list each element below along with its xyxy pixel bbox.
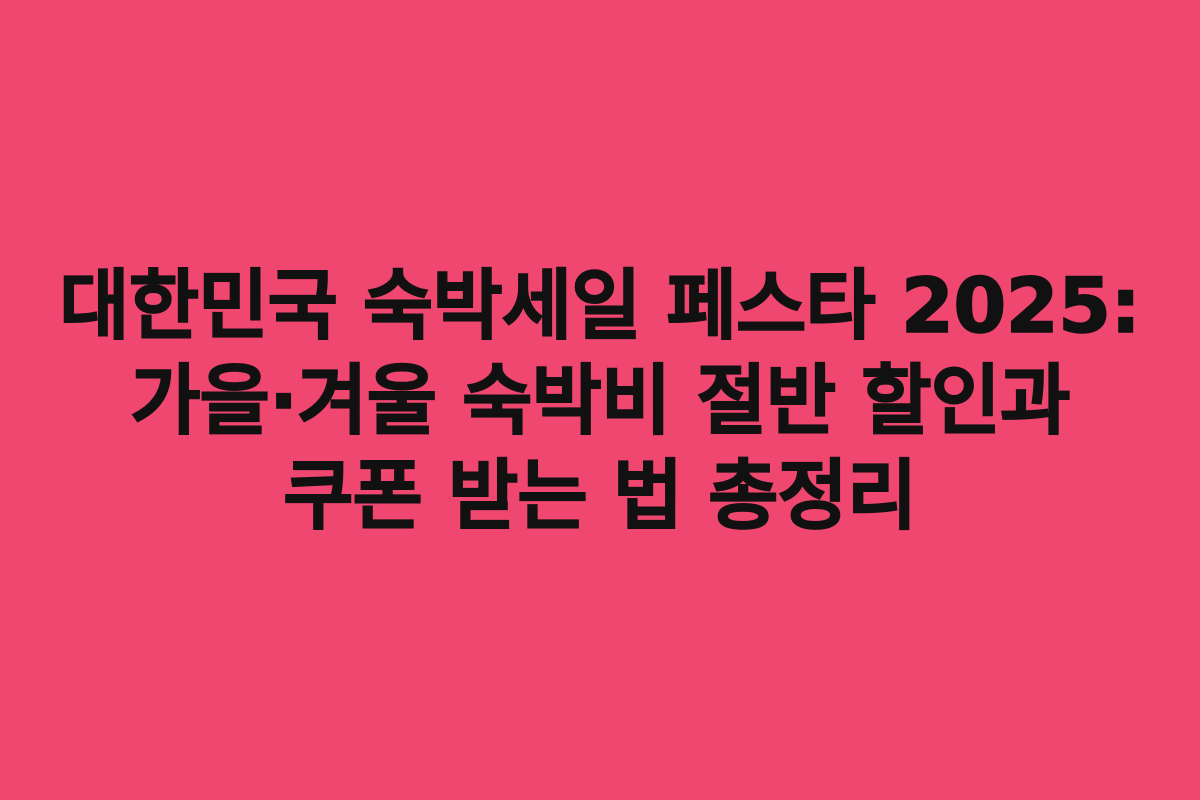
title-line-1: 대한민국 숙박세일 페스타 2025: [40, 258, 1160, 353]
page-title: 대한민국 숙박세일 페스타 2025: 가을·겨울 숙박비 절반 할인과 쿠폰 … [40, 258, 1160, 543]
title-line-2: 가을·겨울 숙박비 절반 할인과 [40, 353, 1160, 448]
title-line-3: 쿠폰 받는 법 총정리 [40, 448, 1160, 543]
hero-card: 대한민국 숙박세일 페스타 2025: 가을·겨울 숙박비 절반 할인과 쿠폰 … [0, 0, 1200, 800]
